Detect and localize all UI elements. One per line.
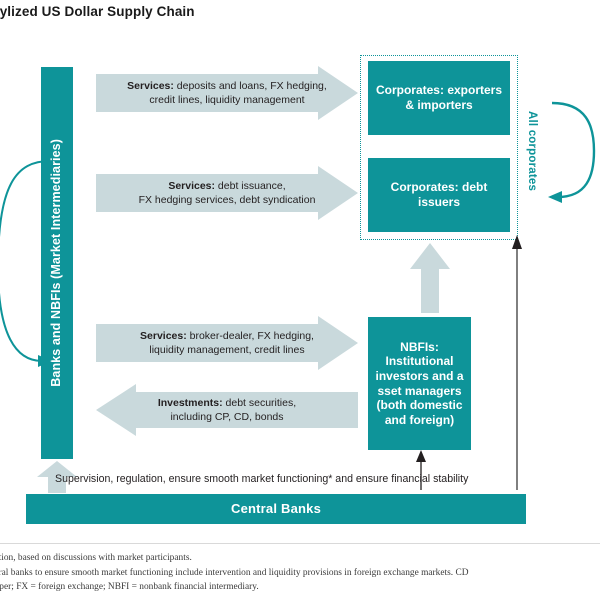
flow-label-line1: broker-dealer, FX hedging, — [187, 330, 314, 342]
flow-label-bold: Services: — [168, 180, 215, 192]
flow-label-line1: debt securities, — [223, 397, 297, 409]
flow-label: Services: broker-dealer, FX hedging, liq… — [124, 329, 330, 357]
flow-label-bold: Services: — [127, 80, 174, 92]
supervision-caption: Supervision, regulation, ensure smooth m… — [55, 473, 468, 485]
central-banks-label: Central Banks — [231, 501, 321, 517]
flow-label-line1: debt issuance, — [215, 180, 286, 192]
diagram-canvas: Stylized US Dollar Supply Chain Banks an… — [0, 0, 600, 600]
flow-arrow-services-to-debt-issuers: Services: debt issuance, FX hedging serv… — [96, 166, 358, 220]
flow-arrow-services-to-nbfis: Services: broker-dealer, FX hedging, liq… — [96, 316, 358, 370]
flow-arrow-services-to-exporters: Services: deposits and loans, FX hedging… — [96, 66, 358, 120]
footnote-line-1: ff compilation, based on discussions wit… — [0, 551, 600, 566]
flow-label-line1: deposits and loans, FX hedging, — [174, 80, 327, 92]
page-title: Stylized US Dollar Supply Chain — [0, 4, 195, 19]
nbfis-box[interactable]: NBFIs: Institutional investors and a sse… — [368, 317, 471, 450]
central-banks-bar[interactable]: Central Banks — [26, 494, 526, 524]
footnote-line-3: mercial paper; FX = foreign exchange; NB… — [0, 580, 600, 595]
footnote-divider — [0, 543, 600, 544]
corporates-exporters-box[interactable]: Corporates: exporters & importers — [368, 61, 510, 135]
flow-label-line2: including CP, CD, bonds — [170, 411, 283, 423]
nbfis-label: NBFIs: Institutional investors and a sse… — [372, 340, 467, 428]
footnote-line-2: ed by central banks to ensure smooth mar… — [0, 566, 600, 581]
thin-up-arrow-icon — [506, 235, 528, 490]
footnotes: ff compilation, based on discussions wit… — [0, 551, 600, 595]
curved-arrow-icon — [544, 95, 600, 207]
flow-label-line2: credit lines, liquidity management — [149, 94, 304, 106]
flow-arrow-investments-from-nbfis: Investments: debt securities, including … — [96, 384, 358, 436]
flow-label-bold: Investments: — [158, 397, 223, 409]
flow-label-line2: FX hedging services, debt syndication — [139, 194, 316, 206]
flow-arrow-nbfis-to-corporates — [410, 243, 450, 313]
flow-label: Services: debt issuance, FX hedging serv… — [123, 179, 332, 207]
flow-label: Investments: debt securities, including … — [142, 396, 312, 424]
corporates-debt-issuers-box[interactable]: Corporates: debt issuers — [368, 158, 510, 232]
corporates-debt-issuers-label: Corporates: debt issuers — [374, 180, 504, 209]
flow-label-line2: liquidity management, credit lines — [149, 344, 304, 356]
corporates-to-banks-label: management, FX hedging, deposits and loa… — [0, 170, 74, 402]
flow-label: Services: deposits and loans, FX hedging… — [111, 79, 343, 107]
all-corporates-curved-arrow — [544, 95, 600, 207]
flow-label-bold: Services: — [140, 330, 187, 342]
supervision-arrow-to-corporates — [506, 235, 528, 490]
all-corporates-label: All corporates — [526, 111, 538, 191]
up-arrow-shape-icon — [410, 243, 450, 313]
corporates-exporters-label: Corporates: exporters & importers — [374, 83, 504, 112]
